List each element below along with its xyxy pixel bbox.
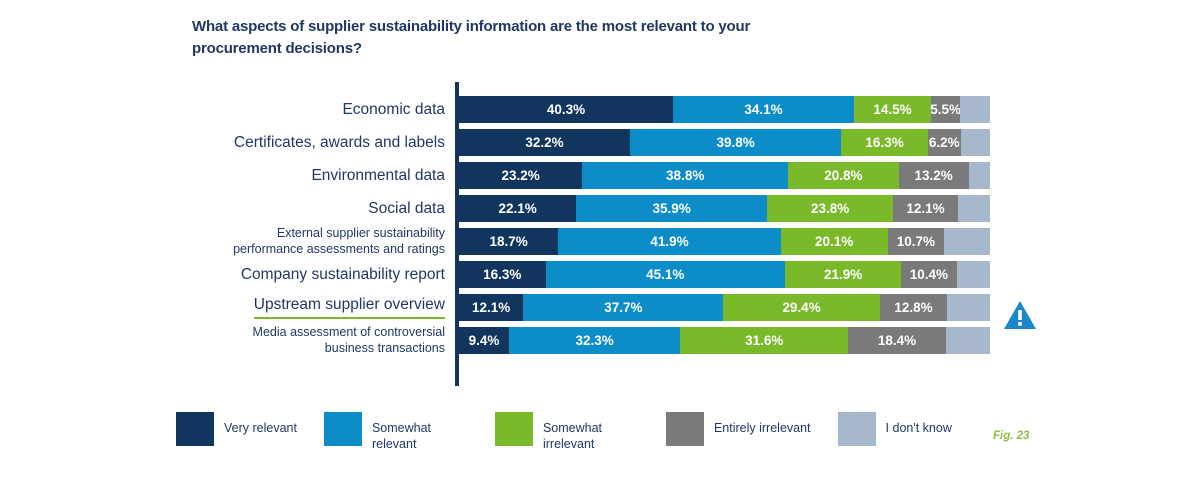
category-label-line: Certificates, awards and labels xyxy=(234,134,445,151)
bar-segment-entirely-irrelevant: 6.2% xyxy=(928,129,961,156)
category-label-line: Social data xyxy=(368,200,445,217)
bar-row: Company sustainability report16.3%45.1%2… xyxy=(459,261,990,288)
bar-segment-somewhat-irrelevant: 20.1% xyxy=(781,228,888,255)
bar-segment-i-dont-know xyxy=(957,261,990,288)
bar-segment-somewhat-irrelevant: 16.3% xyxy=(841,129,928,156)
bar-segment-i-dont-know xyxy=(969,162,990,189)
bar-segment-very-relevant: 12.1% xyxy=(459,294,523,321)
chart-legend: Very relevantSomewhat relevantSomewhat i… xyxy=(176,412,979,452)
bar-row: Media assessment of controversialbusines… xyxy=(459,327,990,354)
category-label-line: business transactions xyxy=(325,341,445,356)
category-label: Social data xyxy=(191,195,459,222)
bar-segment-i-dont-know xyxy=(960,96,990,123)
legend-item-very-relevant[interactable]: Very relevant xyxy=(176,412,297,446)
bar-segment-somewhat-irrelevant: 20.8% xyxy=(788,162,898,189)
bar-segment-somewhat-relevant: 37.7% xyxy=(523,294,723,321)
bar-segment-entirely-irrelevant: 5.5% xyxy=(931,96,960,123)
legend-swatch-entirely-irrelevant xyxy=(666,412,704,446)
bar-segment-somewhat-relevant: 34.1% xyxy=(673,96,854,123)
legend-label: Entirely irrelevant xyxy=(714,412,811,437)
bar-segment-somewhat-irrelevant: 23.8% xyxy=(767,195,893,222)
legend-item-somewhat-relevant[interactable]: Somewhat relevant xyxy=(324,412,468,452)
legend-swatch-somewhat-irrelevant xyxy=(495,412,533,446)
bar-segment-somewhat-irrelevant: 29.4% xyxy=(723,294,879,321)
bar-segment-very-relevant: 22.1% xyxy=(459,195,576,222)
bar-segment-somewhat-relevant: 32.3% xyxy=(509,327,681,354)
chart-plot-area: Economic data40.3%34.1%14.5%5.5%Certific… xyxy=(0,0,1200,400)
category-label-line: performance assessments and ratings xyxy=(233,242,445,257)
bar-segment-i-dont-know xyxy=(944,228,990,255)
bar-segment-very-relevant: 32.2% xyxy=(459,129,630,156)
bar-segment-very-relevant: 16.3% xyxy=(459,261,546,288)
bar-segment-somewhat-relevant: 41.9% xyxy=(558,228,780,255)
bar-segment-entirely-irrelevant: 12.1% xyxy=(893,195,957,222)
category-label-line: Upstream supplier overview xyxy=(254,296,445,318)
legend-label: I don't know xyxy=(886,412,952,437)
legend-item-somewhat-irrelevant[interactable]: Somewhat irrelevant xyxy=(495,412,639,452)
category-label-line: Environmental data xyxy=(311,167,445,184)
bar-row: Social data22.1%35.9%23.8%12.1% xyxy=(459,195,990,222)
bar-segment-somewhat-irrelevant: 14.5% xyxy=(854,96,931,123)
legend-swatch-very-relevant xyxy=(176,412,214,446)
bar-segment-very-relevant: 18.7% xyxy=(459,228,558,255)
bar-segment-entirely-irrelevant: 13.2% xyxy=(899,162,969,189)
bar-row: External supplier sustainabilityperforma… xyxy=(459,228,990,255)
bar-segment-entirely-irrelevant: 12.8% xyxy=(880,294,948,321)
bar-segment-very-relevant: 9.4% xyxy=(459,327,509,354)
category-label-line: Media assessment of controversial xyxy=(253,325,445,340)
legend-swatch-i-dont-know xyxy=(838,412,876,446)
bar-segment-entirely-irrelevant: 10.4% xyxy=(901,261,956,288)
legend-swatch-somewhat-relevant xyxy=(324,412,362,446)
bar-segment-i-dont-know xyxy=(947,294,989,321)
category-label: External supplier sustainabilityperforma… xyxy=(191,228,459,255)
bar-row: Economic data40.3%34.1%14.5%5.5% xyxy=(459,96,990,123)
bar-segment-somewhat-irrelevant: 31.6% xyxy=(680,327,848,354)
category-label: Company sustainability report xyxy=(191,261,459,288)
warning-triangle-icon xyxy=(1003,300,1037,330)
category-label-line: Economic data xyxy=(342,101,445,118)
bar-segment-i-dont-know xyxy=(958,195,990,222)
category-label: Certificates, awards and labels xyxy=(191,129,459,156)
category-label: Economic data xyxy=(191,96,459,123)
bar-segment-very-relevant: 40.3% xyxy=(459,96,673,123)
legend-label: Very relevant xyxy=(224,412,297,437)
bar-segment-i-dont-know xyxy=(961,129,990,156)
bar-row: Environmental data23.2%38.8%20.8%13.2% xyxy=(459,162,990,189)
category-label: Media assessment of controversialbusines… xyxy=(191,327,459,354)
bar-segment-somewhat-relevant: 39.8% xyxy=(630,129,841,156)
bar-segment-somewhat-relevant: 38.8% xyxy=(582,162,788,189)
category-label: Environmental data xyxy=(191,162,459,189)
legend-item-entirely-irrelevant[interactable]: Entirely irrelevant xyxy=(666,412,811,446)
bar-segment-entirely-irrelevant: 10.7% xyxy=(888,228,945,255)
bar-segment-somewhat-relevant: 35.9% xyxy=(576,195,767,222)
bar-segment-somewhat-relevant: 45.1% xyxy=(546,261,785,288)
bar-segment-i-dont-know xyxy=(946,327,990,354)
bar-row: Upstream supplier overview12.1%37.7%29.4… xyxy=(459,294,990,321)
category-label-line: Company sustainability report xyxy=(241,266,445,283)
bar-segment-very-relevant: 23.2% xyxy=(459,162,582,189)
category-label: Upstream supplier overview xyxy=(191,294,459,321)
stacked-bar-rows: Economic data40.3%34.1%14.5%5.5%Certific… xyxy=(459,96,990,360)
figure-caption: Fig. 23 xyxy=(993,430,1029,442)
legend-item-i-dont-know[interactable]: I don't know xyxy=(838,412,952,446)
bar-segment-somewhat-irrelevant: 21.9% xyxy=(785,261,901,288)
category-label-line: External supplier sustainability xyxy=(277,226,445,241)
bar-row: Certificates, awards and labels32.2%39.8… xyxy=(459,129,990,156)
legend-label: Somewhat irrelevant xyxy=(543,412,639,452)
legend-label: Somewhat relevant xyxy=(372,412,468,452)
bar-segment-entirely-irrelevant: 18.4% xyxy=(848,327,946,354)
